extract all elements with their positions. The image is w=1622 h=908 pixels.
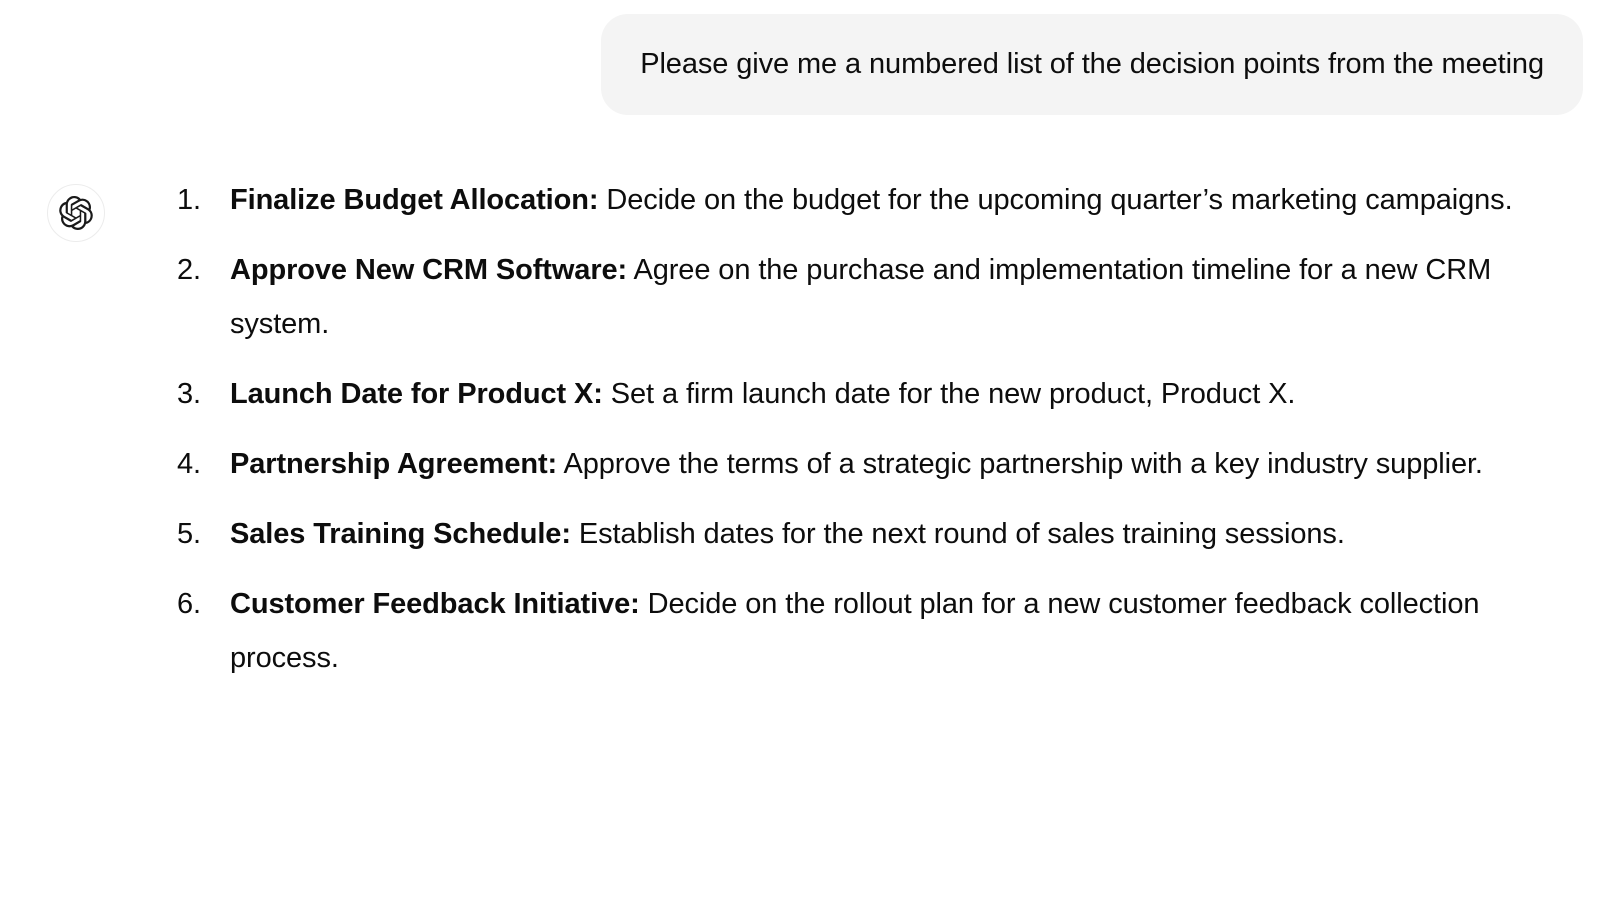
list-item-label: Finalize Budget Allocation: — [230, 184, 598, 216]
list-item: Sales Training Schedule: Establish dates… — [173, 507, 1562, 561]
assistant-avatar — [47, 184, 105, 242]
assistant-message-body: Finalize Budget Allocation: Decide on th… — [105, 173, 1622, 685]
list-item-text: Decide on the budget for the upcoming qu… — [598, 184, 1512, 216]
openai-logo-icon — [59, 196, 93, 230]
list-item: Approve New CRM Software: Agree on the p… — [173, 243, 1562, 351]
list-item-text: Approve the terms of a strategic partner… — [557, 448, 1483, 480]
assistant-message-turn: Finalize Budget Allocation: Decide on th… — [0, 115, 1622, 685]
user-message-bubble[interactable]: Please give me a numbered list of the de… — [601, 14, 1583, 115]
list-item-label: Launch Date for Product X: — [230, 378, 603, 410]
list-item-text: Establish dates for the next round of sa… — [571, 518, 1345, 550]
user-message-text: Please give me a numbered list of the de… — [640, 40, 1544, 88]
conversation-thread: Please give me a numbered list of the de… — [0, 0, 1622, 908]
list-item-text: Set a firm launch date for the new produ… — [603, 378, 1295, 410]
decision-points-list: Finalize Budget Allocation: Decide on th… — [173, 173, 1562, 685]
list-item-label: Partnership Agreement: — [230, 448, 557, 480]
list-item-label: Approve New CRM Software: — [230, 254, 627, 286]
list-item: Partnership Agreement: Approve the terms… — [173, 437, 1562, 491]
list-item: Finalize Budget Allocation: Decide on th… — [173, 173, 1562, 227]
list-item: Launch Date for Product X: Set a firm la… — [173, 367, 1562, 421]
user-message-turn: Please give me a numbered list of the de… — [0, 0, 1622, 115]
list-item-label: Customer Feedback Initiative: — [230, 588, 640, 620]
list-item: Customer Feedback Initiative: Decide on … — [173, 577, 1562, 685]
list-item-label: Sales Training Schedule: — [230, 518, 571, 550]
